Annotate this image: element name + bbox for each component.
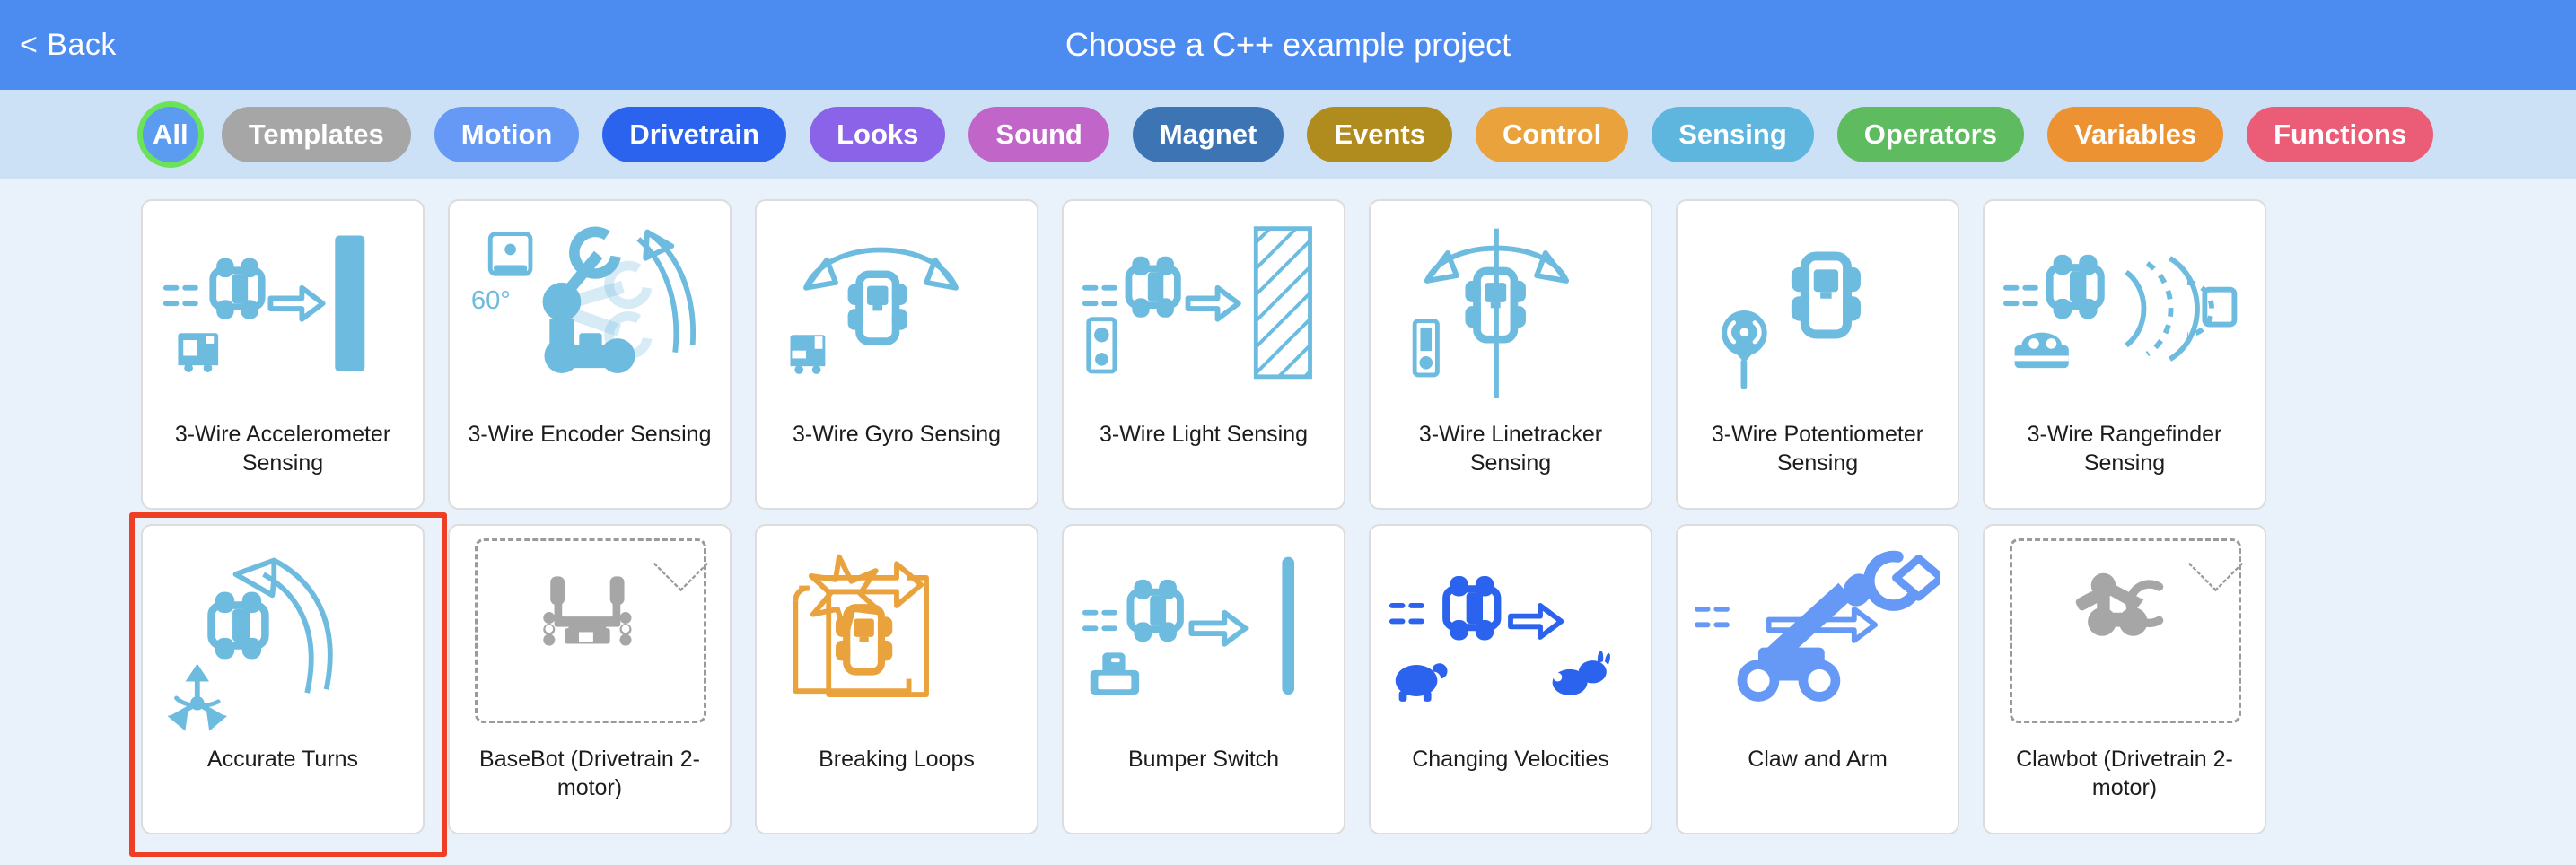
project-card-label: Clawbot (Drivetrain 2- motor) <box>2003 745 2246 802</box>
robot-gyro-icon <box>757 201 1037 420</box>
project-card-label: Claw and Arm <box>1735 745 1900 773</box>
project-card-slot: Changing Velocities <box>1369 524 1652 834</box>
project-card[interactable]: 3-Wire Linetracker Sensing <box>1369 199 1652 510</box>
project-row: 3-Wire Accelerometer Sensing 60° 3-Wire … <box>0 199 2576 510</box>
category-filter-bar: AllTemplatesMotionDrivetrainLooksSoundMa… <box>0 90 2576 179</box>
filter-pill-operators[interactable]: Operators <box>1837 107 2024 162</box>
project-card[interactable]: 3-Wire Rangefinder Sensing <box>1983 199 2266 510</box>
project-grid: 3-Wire Accelerometer Sensing 60° 3-Wire … <box>0 179 2576 865</box>
project-card-label: 3-Wire Rangefinder Sensing <box>2015 420 2235 477</box>
template-document-frame <box>475 538 706 723</box>
filter-pill-label: Magnet <box>1160 118 1257 151</box>
loop-break-icon <box>757 526 1037 745</box>
robot-velocity-icon <box>1371 526 1651 745</box>
filter-pill-label: All <box>153 118 188 151</box>
filter-pill-label: Motion <box>461 118 553 151</box>
project-card-selected: Accurate Turns <box>141 524 425 834</box>
project-card[interactable]: Claw and Arm <box>1676 524 1959 834</box>
project-card-slot: Claw and Arm <box>1676 524 1959 834</box>
project-card[interactable]: Changing Velocities <box>1369 524 1652 834</box>
filter-pill-functions[interactable]: Functions <box>2247 107 2433 162</box>
project-card-slot: Clawbot (Drivetrain 2- motor) <box>1983 524 2266 834</box>
filter-pill-all[interactable]: All <box>143 107 198 162</box>
project-card-label: 3-Wire Light Sensing <box>1087 420 1320 449</box>
project-card-label: Breaking Loops <box>806 745 987 773</box>
project-card-label: 3-Wire Accelerometer Sensing <box>162 420 403 477</box>
project-card-label: 3-Wire Potentiometer Sensing <box>1699 420 1936 477</box>
filter-pill-motion[interactable]: Motion <box>434 107 580 162</box>
project-card-slot: 3-Wire Accelerometer Sensing <box>141 199 425 510</box>
project-card-slot: BaseBot (Drivetrain 2- motor) <box>448 524 732 834</box>
project-card-slot: 3-Wire Light Sensing <box>1062 199 1345 510</box>
project-card[interactable]: 3-Wire Gyro Sensing <box>755 199 1038 510</box>
claw-arm-icon <box>1678 526 1958 745</box>
filter-pill-variables[interactable]: Variables <box>2047 107 2223 162</box>
filter-pill-control[interactable]: Control <box>1476 107 1628 162</box>
filter-pill-sensing[interactable]: Sensing <box>1652 107 1814 162</box>
project-card-slot: 3-Wire Potentiometer Sensing <box>1676 199 1959 510</box>
robot-bumper-icon <box>1064 526 1344 745</box>
project-card-label: 3-Wire Gyro Sensing <box>780 420 1013 449</box>
filter-pill-label: Drivetrain <box>629 118 759 151</box>
back-button[interactable]: < Back <box>20 28 117 63</box>
project-card-label: Bumper Switch <box>1116 745 1292 773</box>
filter-pill-label: Functions <box>2274 118 2406 151</box>
project-card-slot: 3-Wire Rangefinder Sensing <box>1983 199 2266 510</box>
arm-encoder-icon: 60° <box>450 201 730 420</box>
project-card[interactable]: Bumper Switch <box>1062 524 1345 834</box>
project-card-label: 3-Wire Encoder Sensing <box>456 420 724 449</box>
filter-pill-events[interactable]: Events <box>1307 107 1452 162</box>
project-card[interactable]: 3-Wire Potentiometer Sensing <box>1676 199 1959 510</box>
page-header: < Back Choose a C++ example project <box>0 0 2576 90</box>
project-row: Accurate Turns BaseBot (Drivetrain 2- mo… <box>0 524 2576 834</box>
filter-pill-label: Sensing <box>1678 118 1787 151</box>
project-card-slot: Bumper Switch <box>1062 524 1345 834</box>
filter-pill-label: Events <box>1334 118 1425 151</box>
filter-pill-label: Looks <box>837 118 918 151</box>
filter-pill-label: Sound <box>995 118 1082 151</box>
robot-rangefinder-icon <box>1985 201 2265 420</box>
project-card[interactable]: 3-Wire Accelerometer Sensing <box>141 199 425 510</box>
project-card[interactable]: Breaking Loops <box>755 524 1038 834</box>
project-card-label: Changing Velocities <box>1399 745 1622 773</box>
project-card-slot: Breaking Loops <box>755 524 1038 834</box>
filter-pill-label: Control <box>1503 118 1601 151</box>
filter-pill-templates[interactable]: Templates <box>222 107 411 162</box>
project-card[interactable]: 60° 3-Wire Encoder Sensing <box>448 199 732 510</box>
project-card[interactable]: BaseBot (Drivetrain 2- motor) <box>448 524 732 834</box>
robot-turn-icon <box>143 526 423 745</box>
template-document-frame <box>2010 538 2241 723</box>
filter-pill-magnet[interactable]: Magnet <box>1133 107 1284 162</box>
filter-pill-drivetrain[interactable]: Drivetrain <box>602 107 786 162</box>
project-card-slot: 3-Wire Gyro Sensing <box>755 199 1038 510</box>
project-card-label: 3-Wire Linetracker Sensing <box>1406 420 1615 477</box>
page-title: Choose a C++ example project <box>0 26 2576 64</box>
project-card-slot: 60° 3-Wire Encoder Sensing <box>448 199 732 510</box>
filter-pill-sound[interactable]: Sound <box>968 107 1108 162</box>
filter-pill-label: Templates <box>249 118 384 151</box>
filter-pill-looks[interactable]: Looks <box>810 107 945 162</box>
project-card-slot: 3-Wire Linetracker Sensing <box>1369 199 1652 510</box>
project-card-label: BaseBot (Drivetrain 2- motor) <box>467 745 713 802</box>
robot-linetracker-icon <box>1371 201 1651 420</box>
robot-light-icon <box>1064 201 1344 420</box>
project-card[interactable]: Clawbot (Drivetrain 2- motor) <box>1983 524 2266 834</box>
svg-text:60°: 60° <box>471 286 511 315</box>
filter-pill-label: Variables <box>2074 118 2196 151</box>
filter-pill-label: Operators <box>1864 118 1997 151</box>
project-card[interactable]: 3-Wire Light Sensing <box>1062 199 1345 510</box>
robot-potentiometer-icon <box>1678 201 1958 420</box>
basebot-icon <box>450 526 730 745</box>
clawbot-icon <box>1985 526 2265 745</box>
project-card-label: Accurate Turns <box>195 745 371 773</box>
robot-accelerometer-icon <box>143 201 423 420</box>
project-card[interactable]: Accurate Turns <box>141 524 425 834</box>
